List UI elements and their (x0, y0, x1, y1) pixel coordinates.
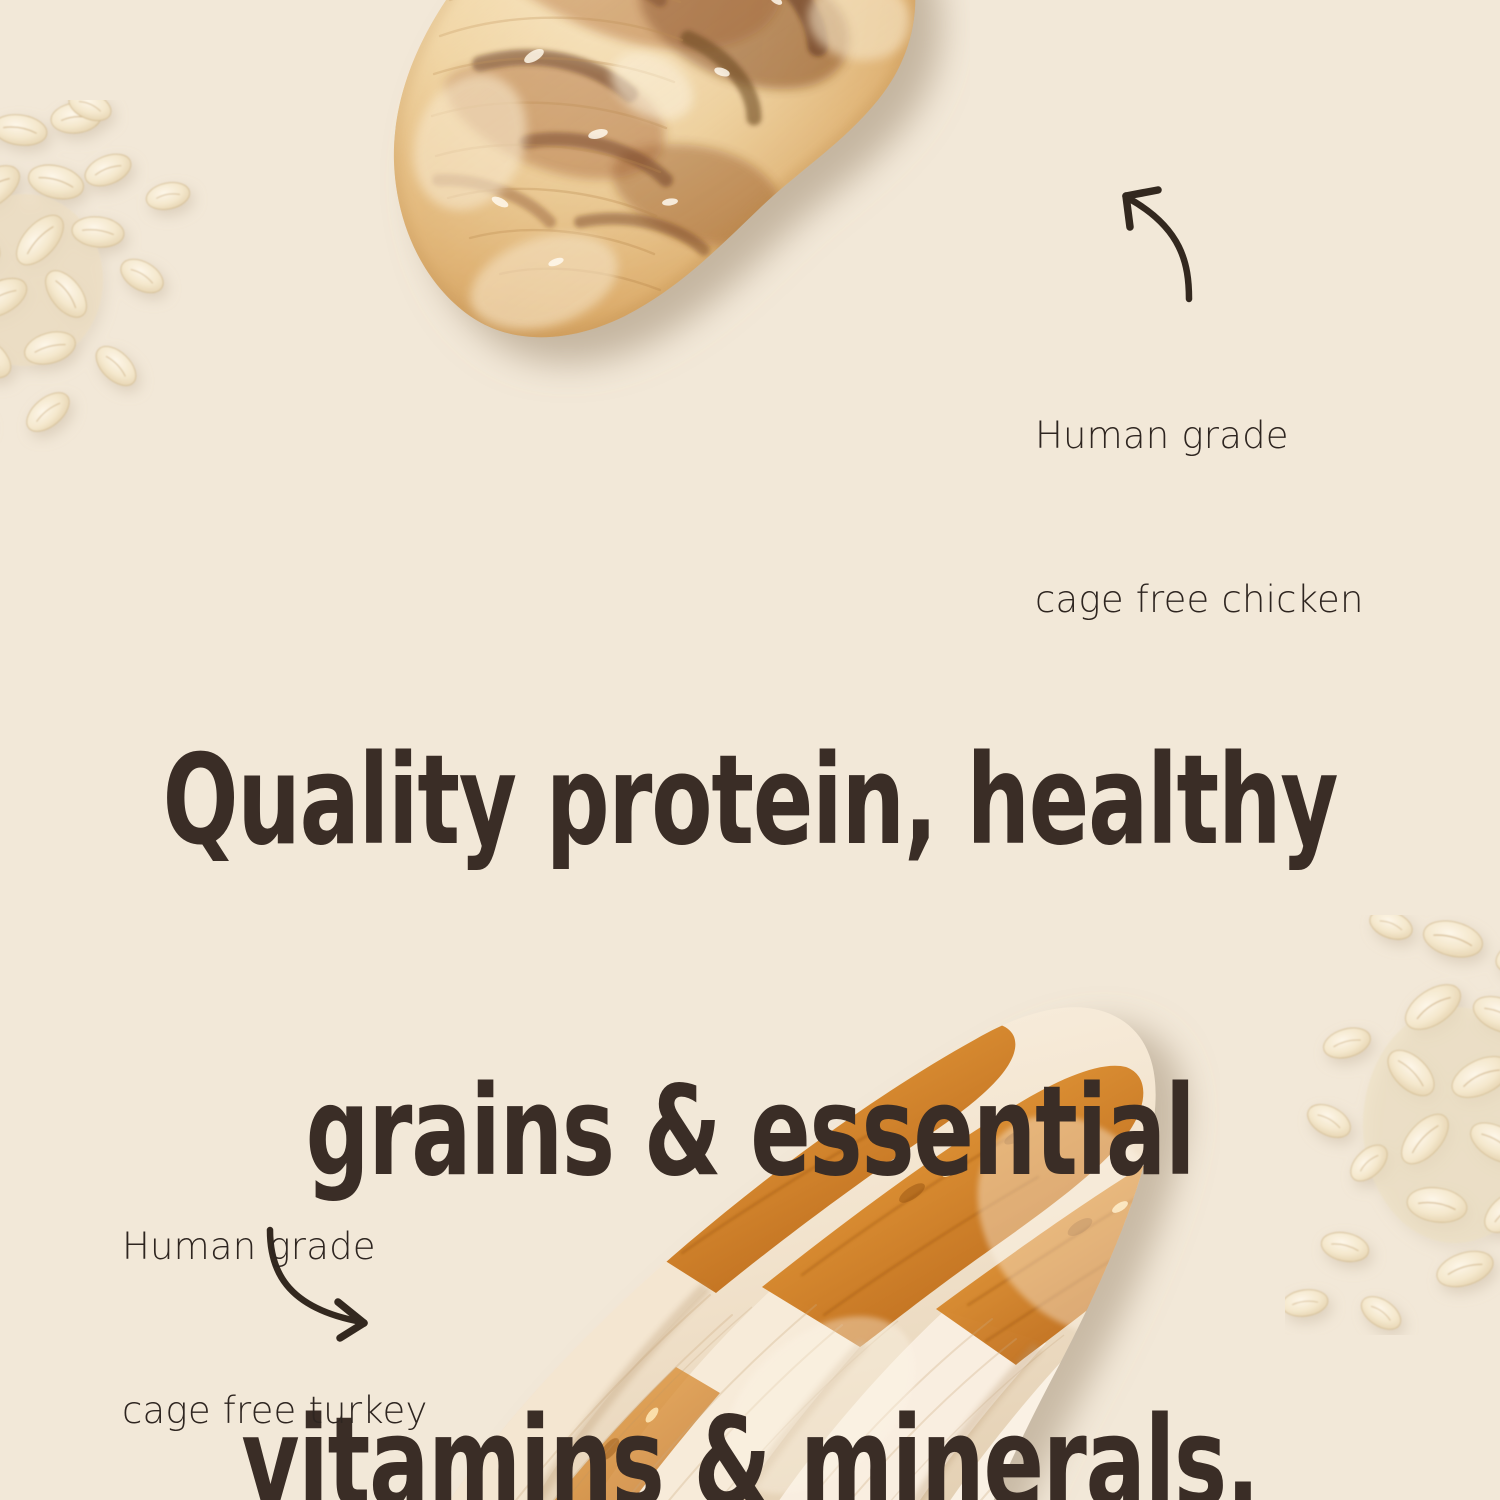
rolled-oats-cluster-top-left (0, 100, 210, 460)
curved-arrow-up-left-icon (1086, 172, 1226, 312)
callout-turkey-line-1: Human grade (122, 1220, 428, 1275)
callout-turkey-line-2: cage free turkey (122, 1384, 428, 1439)
callout-chicken-line-1: Human grade (1035, 409, 1364, 464)
callout-chicken-line-2: cage free chicken (1035, 573, 1364, 628)
headline-line-1: Quality protein, healthy (150, 744, 1350, 858)
callout-turkey-label: Human grade cage free turkey (122, 1110, 428, 1500)
callout-chicken-label: Human grade cage free chicken (1035, 299, 1364, 737)
product-feature-panel: Quality protein, healthy grains & essent… (0, 0, 1500, 1500)
grilled-chicken-breast-photo (330, 0, 970, 440)
